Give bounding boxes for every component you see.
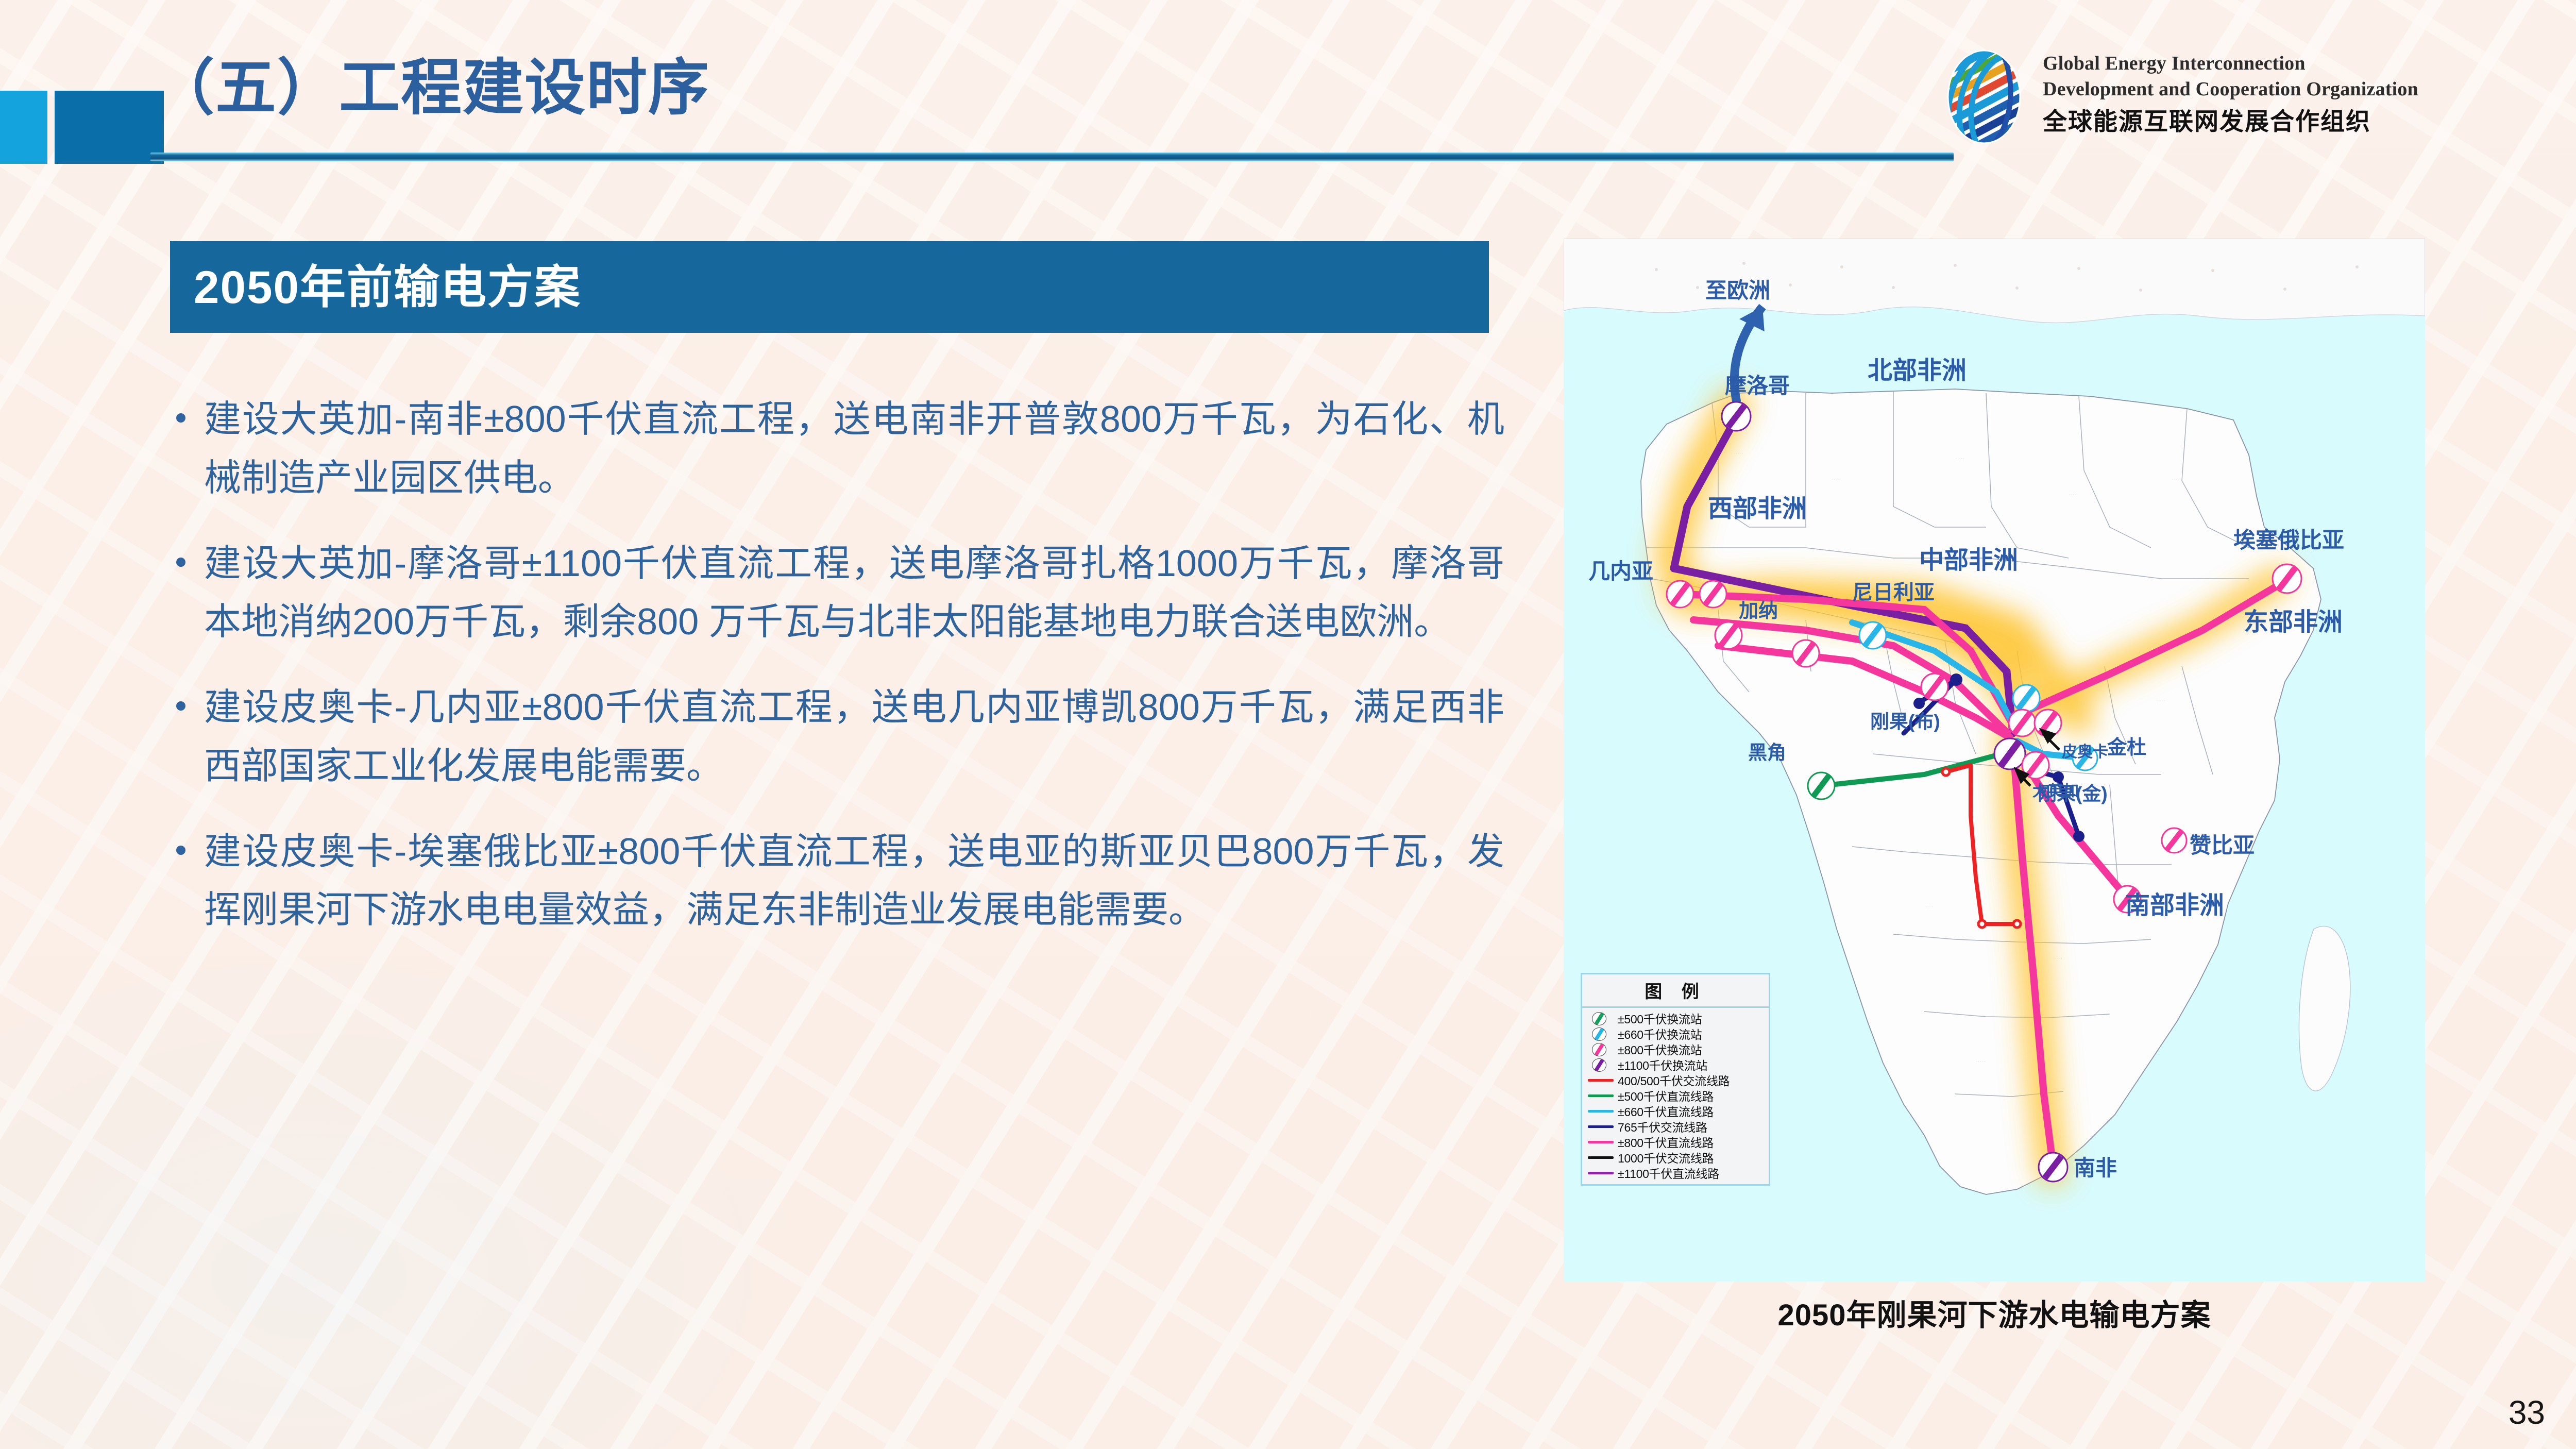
legend-label: ±800千伏换流站	[1618, 1040, 1702, 1058]
europe-landmass	[1564, 239, 2425, 323]
svg-text:·····: ·····	[2053, 955, 2062, 962]
list-item: 建设皮奥卡-埃塞俄比亚±800千伏直流工程，送电亚的斯亚贝巴800万千瓦，发挥刚…	[170, 823, 1504, 940]
station-zambia2-800	[2162, 828, 2187, 853]
svg-text:·····: ·····	[1955, 456, 1964, 462]
map-label-piaoka: 皮奥卡	[2062, 743, 2108, 761]
legend-label: 1000千伏交流线路	[1618, 1149, 1714, 1166]
map-label-kindu: 金杜	[2107, 736, 2146, 759]
station-pointe-noire-500	[1808, 772, 1835, 799]
accent-square-light	[0, 91, 47, 164]
section-banner: 2050年前输电方案	[170, 241, 1489, 333]
legend-symbol	[1587, 1166, 1615, 1180]
station-central-800	[1921, 673, 1948, 700]
map-label-grand-inga: 大英加	[2032, 783, 2079, 800]
station-congo-660	[2013, 685, 2040, 712]
legend-label: 400/500千伏交流线路	[1618, 1071, 1730, 1089]
map-region-south-africa: 南部非洲	[2125, 892, 2224, 919]
bullet-dot-icon	[176, 413, 185, 423]
accent-square-dark	[55, 91, 164, 164]
svg-text:·····: ·····	[2172, 476, 2181, 482]
station-ethiopia-800	[2273, 564, 2301, 593]
legend-item: ±1100千伏换流站	[1582, 1057, 1769, 1072]
legend-symbol	[1587, 1104, 1615, 1118]
legend-item: ±660千伏换流站	[1582, 1026, 1769, 1041]
legend-symbol	[1587, 1089, 1615, 1102]
svg-text:·····: ·····	[1924, 904, 1934, 910]
converter-station-500-icon	[1592, 1012, 1606, 1025]
title-underline	[150, 153, 1954, 161]
list-item: 建设皮奥卡-几内亚±800千伏直流工程，送电几内亚博凯800万千瓦，满足西非西部…	[170, 679, 1504, 796]
legend-label: ±500千伏直流线路	[1618, 1087, 1714, 1104]
map-region-north-africa: 北部非洲	[1868, 357, 1967, 384]
bullet-text: 建设大英加-摩洛哥±1100千伏直流工程，送电摩洛哥扎格1000万千瓦，摩洛哥本…	[204, 535, 1504, 652]
converter-station-1100-icon	[1592, 1058, 1606, 1072]
line-1000-ac-icon	[1588, 1156, 1614, 1159]
legend-item: ±500千伏换流站	[1582, 1010, 1769, 1026]
legend-symbol	[1587, 1012, 1615, 1025]
bullet-dot-icon	[176, 701, 185, 711]
legend-label: ±1100千伏直流线路	[1618, 1164, 1719, 1182]
legend-item: 1000千伏交流线路	[1582, 1150, 1769, 1165]
section-banner-label: 2050年前输电方案	[194, 264, 581, 310]
logo-english-line-2: Development and Cooperation Organization	[2043, 76, 2537, 102]
legend-item: ±1100千伏直流线路	[1582, 1165, 1769, 1181]
map-region-east-africa: 东部非洲	[2244, 609, 2343, 636]
legend-label: ±800千伏直流线路	[1618, 1133, 1714, 1151]
map-legend: 图 例 ±500千伏换流站 ±660千伏换流站 ±800千伏换流站 ±1100千…	[1581, 973, 1770, 1186]
globe-logo-icon	[1935, 47, 2033, 146]
bullet-text: 建设大英加-南非±800千伏直流工程，送电南非开普敦800万千瓦，为石化、机械制…	[204, 391, 1504, 508]
svg-text:·····: ·····	[2069, 492, 2078, 498]
legend-symbol	[1587, 1042, 1615, 1056]
map-label-nigeria: 尼日利亚	[1852, 581, 1935, 604]
legend-symbol	[1587, 1151, 1615, 1164]
line-500-dc-icon	[1588, 1094, 1614, 1097]
bullet-text: 建设皮奥卡-埃塞俄比亚±800千伏直流工程，送电亚的斯亚贝巴800万千瓦，发挥刚…	[204, 823, 1504, 940]
map-caption: 2050年刚果河下游水电输电方案	[1564, 1291, 2425, 1334]
map-label-guinea: 几内亚	[1588, 559, 1653, 583]
list-item: 建设大英加-摩洛哥±1100千伏直流工程，送电摩洛哥扎格1000万千瓦，摩洛哥本…	[170, 535, 1504, 652]
legend-title: 图 例	[1582, 974, 1769, 1008]
line-800-dc-icon	[1588, 1141, 1614, 1143]
bullet-dot-icon	[176, 558, 185, 567]
legend-label: ±660千伏直流线路	[1618, 1102, 1714, 1120]
map-label-ethiopia: 埃塞俄比亚	[2233, 528, 2344, 553]
legend-symbol	[1587, 1058, 1615, 1071]
converter-station-660-icon	[1592, 1027, 1606, 1041]
legend-label: ±500千伏换流站	[1618, 1009, 1702, 1027]
legend-item: ±660千伏直流线路	[1582, 1103, 1769, 1119]
bullet-list: 建设大英加-南非±800千伏直流工程，送电南非开普敦800万千瓦，为石化、机械制…	[170, 391, 1504, 940]
map-region-west-africa: 西部非洲	[1708, 495, 1807, 523]
content-column: 2050年前输电方案 建设大英加-南非±800千伏直流工程，送电南非开普敦800…	[170, 241, 1504, 967]
map-label-south-africa: 南非	[2074, 1156, 2117, 1180]
legend-item: ±500千伏直流线路	[1582, 1088, 1769, 1103]
line-660-dc-icon	[1588, 1110, 1614, 1113]
svg-text:·····: ·····	[1734, 450, 1743, 457]
line-1100-dc-icon	[1588, 1172, 1614, 1174]
page-title: （五）工程建设时序	[154, 58, 710, 119]
list-item: 建设大英加-南非±800千伏直流工程，送电南非开普敦800万千瓦，为石化、机械制…	[170, 391, 1504, 508]
legend-symbol	[1587, 1027, 1615, 1040]
legend-symbol	[1587, 1120, 1615, 1133]
bullet-text: 建设皮奥卡-几内亚±800千伏直流工程，送电几内亚博凯800万千瓦，满足西非西部…	[204, 679, 1504, 796]
legend-item: 400/500千伏交流线路	[1582, 1072, 1769, 1088]
logo-english-line-1: Global Energy Interconnection	[2043, 50, 2537, 76]
station-ghana-800	[1792, 640, 1819, 667]
legend-label: 765千伏交流线路	[1618, 1118, 1707, 1135]
bullet-dot-icon	[176, 846, 185, 855]
station-nigeria-660	[1859, 622, 1886, 649]
legend-symbol	[1587, 1073, 1615, 1087]
map-region-central-africa: 中部非洲	[1919, 547, 2018, 574]
station-guinea2-800	[1700, 581, 1726, 608]
station-bauxite-800	[1715, 622, 1742, 649]
legend-label: ±1100千伏换流站	[1618, 1056, 1707, 1073]
map-label-morocco: 摩洛哥	[1725, 374, 1790, 398]
map-label-zambia: 赞比亚	[2190, 833, 2255, 857]
svg-text:·····: ·····	[1904, 667, 1913, 673]
station-congo-800	[2009, 710, 2036, 736]
legend-item: ±800千伏换流站	[1582, 1041, 1769, 1057]
station-morocco-1100	[1722, 402, 1751, 431]
map-label-congo-brazza: 刚果(布)	[1870, 711, 1940, 732]
map-label-ghana: 加纳	[1739, 600, 1778, 622]
legend-label: ±660千伏换流站	[1618, 1025, 1702, 1042]
organization-logo: Global Energy Interconnection Developmen…	[1935, 47, 2543, 150]
station-south-africa-1100	[2039, 1153, 2067, 1182]
map-label-pointe-noire: 黑角	[1748, 742, 1786, 763]
legend-symbol	[1587, 1135, 1615, 1149]
legend-item: ±800千伏直流线路	[1582, 1134, 1769, 1150]
map-label-to-europe: 至欧洲	[1705, 278, 1770, 302]
logo-chinese-name: 全球能源互联网发展合作组织	[2043, 107, 2537, 136]
line-400-500-icon	[1588, 1079, 1614, 1082]
svg-text:·····: ·····	[1976, 1058, 1985, 1065]
converter-station-800-icon	[1592, 1043, 1606, 1056]
legend-item: 765千伏交流线路	[1582, 1119, 1769, 1134]
page-number: 33	[2509, 1393, 2545, 1431]
station-guinea-800	[1667, 581, 1693, 608]
svg-text:·····: ·····	[1832, 476, 1841, 482]
line-765-ac-icon	[1588, 1125, 1614, 1128]
station-grand-inga-1100	[1994, 738, 2025, 769]
svg-text:·····: ·····	[2156, 698, 2165, 704]
